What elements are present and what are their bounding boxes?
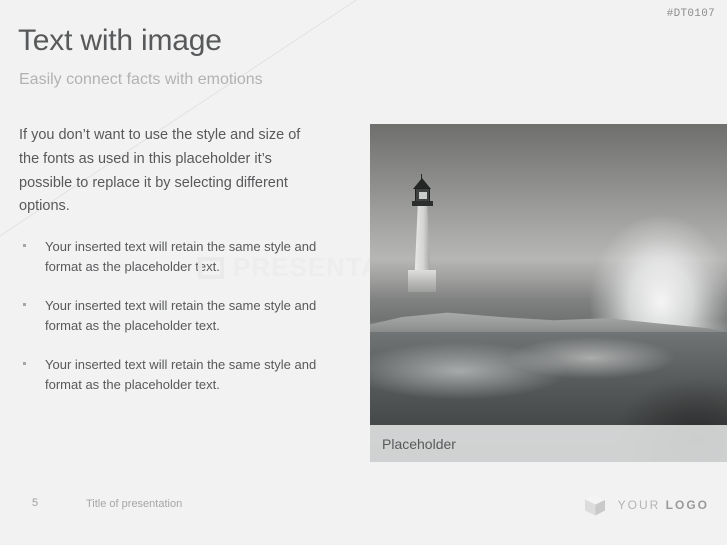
logo-text: YOUR LOGO (618, 498, 709, 512)
footer-logo: YOUR LOGO (582, 492, 709, 518)
footer-presentation-title: Title of presentation (86, 498, 182, 510)
list-item: Your inserted text will retain the same … (19, 237, 335, 276)
list-item-label: Your inserted text will retain the same … (45, 298, 316, 333)
cube-icon (582, 492, 608, 518)
lighthouse-gallery (412, 201, 433, 206)
page-title: Text with image (18, 24, 222, 57)
footer-page-number: 5 (32, 497, 38, 509)
page-subtitle: Easily connect facts with emotions (19, 70, 263, 89)
logo-text-bold: LOGO (666, 498, 709, 512)
bullet-marker-icon (23, 244, 26, 247)
list-item: Your inserted text will retain the same … (19, 296, 335, 335)
list-item-label: Your inserted text will retain the same … (45, 239, 316, 274)
bullet-marker-icon (23, 303, 26, 306)
list-item-label: Your inserted text will retain the same … (45, 357, 316, 392)
slide-canvas: #DT0107 Text with image Easily connect f… (0, 0, 727, 545)
text-content-column: If you don’t want to use the style and s… (19, 124, 349, 394)
list-item: Your inserted text will retain the same … (19, 355, 335, 394)
photo-lighthouse (370, 124, 727, 462)
bullet-marker-icon (23, 362, 26, 365)
photo-lighthouse-structure (406, 174, 440, 294)
lighthouse-lantern-room (415, 188, 430, 202)
image-placeholder[interactable]: Placeholder (370, 124, 727, 462)
lead-paragraph: If you don’t want to use the style and s… (19, 124, 319, 219)
slide-id-tag: #DT0107 (667, 8, 715, 20)
image-caption-band: Placeholder (370, 425, 727, 462)
image-caption-label: Placeholder (382, 436, 456, 452)
lighthouse-base (408, 270, 436, 292)
logo-text-light: YOUR (618, 498, 666, 512)
bullet-list: Your inserted text will retain the same … (19, 237, 349, 394)
